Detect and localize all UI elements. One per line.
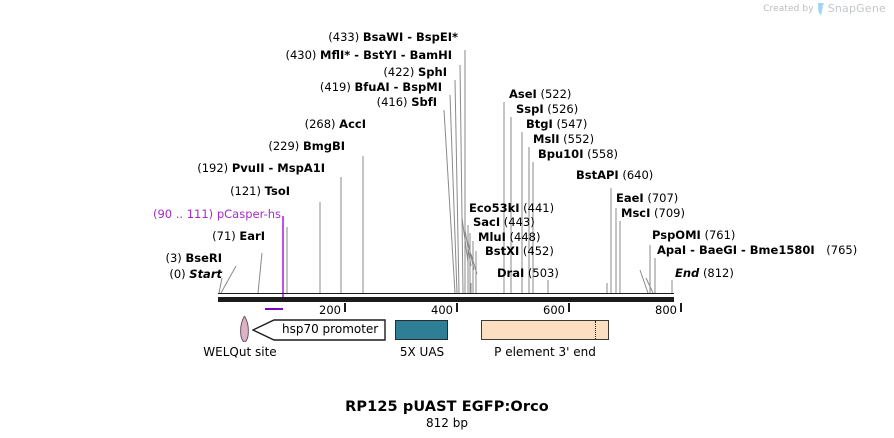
enzyme-label[interactable]: BstXI (452) xyxy=(485,245,554,258)
enzyme-position: (761) xyxy=(704,228,735,242)
enzyme-names: EaeI xyxy=(616,191,644,205)
enzyme-position: (229) xyxy=(268,139,299,153)
ruler-label: 800 xyxy=(655,303,680,317)
enzyme-position: (433) xyxy=(328,30,359,44)
plasmid-title: RP125 pUAST EGFP:Orco xyxy=(0,399,894,415)
enzyme-label[interactable]: (121) TsoI xyxy=(0,185,290,198)
end-position: (812) xyxy=(703,266,734,280)
enzyme-label[interactable]: BstAPI (640) xyxy=(576,169,653,182)
enzyme-names: PspOMI xyxy=(652,228,701,242)
enzyme-position: (547) xyxy=(556,117,587,131)
enzyme-position: (558) xyxy=(587,147,618,161)
plasmid-length: 812 bp xyxy=(0,416,894,430)
enzyme-names: SacI xyxy=(473,215,500,229)
enzyme-label[interactable]: (430) MflI* - BstYI - BamHI xyxy=(0,49,452,62)
ruler-tick xyxy=(456,303,458,312)
enzyme-names: AccI xyxy=(339,117,366,131)
feature-name: pCasper-hs xyxy=(217,207,281,221)
enzyme-label[interactable]: (416) SbfI xyxy=(0,96,437,109)
enzyme-names: EarI xyxy=(239,229,265,243)
enzyme-position: (419) xyxy=(320,80,351,94)
feature-caption-pelement: P element 3' end xyxy=(478,345,612,359)
enzyme-position: (640) xyxy=(622,168,653,182)
ruler-tick xyxy=(344,303,346,312)
enzyme-names: SbfI xyxy=(411,95,437,109)
enzyme-position: (503) xyxy=(528,266,559,280)
start-name: Start xyxy=(189,267,222,281)
enzyme-names: MscI xyxy=(621,206,650,220)
feature-caption-welqut: WELQut site xyxy=(165,345,315,359)
enzyme-label[interactable]: (71) EarI xyxy=(0,230,265,243)
enzyme-label[interactable]: (419) BfuAI - BspMI xyxy=(0,81,442,94)
enzyme-names: BsaWI - BspEI* xyxy=(363,30,458,44)
sequence-backbone[interactable] xyxy=(218,297,674,302)
ruler-tick xyxy=(568,303,570,312)
end-name: End xyxy=(675,266,699,280)
feature-hsp70-label: hsp70 promoter xyxy=(282,322,378,336)
enzyme-names: MflI* - BstYI - BamHI xyxy=(320,48,452,62)
enzyme-position: (448) xyxy=(510,230,541,244)
enzyme-names: DraI xyxy=(497,266,524,280)
enzyme-label[interactable]: Eco53kI (441) xyxy=(469,202,554,215)
enzyme-names: TsoI xyxy=(265,184,290,198)
watermark-brand: SnapGene xyxy=(828,2,886,15)
enzyme-label[interactable]: BtgI (547) xyxy=(526,118,587,131)
enzyme-position: (422) xyxy=(383,65,414,79)
enzyme-label[interactable]: SspI (526) xyxy=(516,103,578,116)
enzyme-names: ApaI - BaeGI - Bme1580I xyxy=(657,243,815,257)
enzyme-names: MluI xyxy=(478,230,506,244)
ruler-label: 400 xyxy=(431,303,456,317)
enzyme-position: (552) xyxy=(563,132,594,146)
enzyme-position: (452) xyxy=(523,244,554,258)
feature-welqut-site[interactable] xyxy=(239,316,250,342)
enzyme-label[interactable]: DraI (503) xyxy=(497,267,559,280)
start-label[interactable]: (0) Start xyxy=(0,268,222,281)
enzyme-label[interactable]: PspOMI (761) xyxy=(652,229,735,242)
watermark-prefix: Created by xyxy=(763,4,814,14)
feature-hsp70-promoter[interactable]: hsp70 promoter xyxy=(252,319,386,341)
enzyme-names: MslI xyxy=(533,132,560,146)
enzyme-label[interactable]: (268) AccI xyxy=(0,118,366,131)
enzyme-label[interactable]: ApaI - BaeGI - Bme1580I (765) xyxy=(657,244,857,257)
enzyme-label[interactable]: EaeI (707) xyxy=(616,192,678,205)
enzyme-names: PvuII - MspA1I xyxy=(232,161,325,175)
enzyme-label[interactable]: (422) SphI xyxy=(0,66,447,79)
enzyme-names: BfuAI - BspMI xyxy=(355,80,442,94)
enzyme-position: (416) xyxy=(377,95,408,109)
enzyme-position: (441) xyxy=(523,201,554,215)
enzyme-label[interactable]: MslI (552) xyxy=(533,133,594,146)
enzyme-label[interactable]: MscI (709) xyxy=(621,207,685,220)
snapgene-watermark: Created by SnapGene xyxy=(763,2,886,15)
ruler-label: 200 xyxy=(319,303,344,317)
enzyme-label[interactable]: (229) BmgBI xyxy=(0,140,345,153)
enzyme-position: (522) xyxy=(540,87,571,101)
enzyme-position: (430) xyxy=(285,48,316,62)
enzyme-position: (3) xyxy=(166,251,182,265)
enzyme-names: AseI xyxy=(509,87,537,101)
enzyme-position: (121) xyxy=(230,184,261,198)
enzyme-names: Eco53kI xyxy=(469,201,520,215)
enzyme-names: BseRI xyxy=(185,251,222,265)
enzyme-names: BmgBI xyxy=(303,139,345,153)
feature-label-pcasper-hs[interactable]: (90 .. 111) pCasper-hs xyxy=(0,208,281,221)
enzyme-names: Bpu10I xyxy=(538,147,583,161)
enzyme-label[interactable]: SacI (443) xyxy=(473,216,535,229)
enzyme-names: BstXI xyxy=(485,244,519,258)
snapgene-logo-icon xyxy=(817,3,825,14)
sequence-backbone-line xyxy=(218,293,674,294)
enzyme-position: (709) xyxy=(654,206,685,220)
ruler-tick xyxy=(680,303,682,312)
enzyme-position: (707) xyxy=(647,191,678,205)
start-position: (0) xyxy=(169,267,185,281)
plasmid-map: Created by SnapGene xyxy=(0,0,894,438)
enzyme-label[interactable]: (433) BsaWI - BspEI* xyxy=(0,31,458,44)
enzyme-label[interactable]: AseI (522) xyxy=(509,88,571,101)
end-label[interactable]: End (812) xyxy=(675,267,734,280)
enzyme-names: SphI xyxy=(418,65,447,79)
enzyme-names: BtgI xyxy=(526,117,553,131)
feature-p-element-3-end[interactable] xyxy=(481,320,609,340)
enzyme-label[interactable]: Bpu10I (558) xyxy=(538,148,618,161)
feature-internal-divider xyxy=(595,321,596,339)
enzyme-position: (443) xyxy=(504,215,535,229)
enzyme-position: (71) xyxy=(212,229,236,243)
feature-5x-uas[interactable] xyxy=(395,320,448,340)
enzyme-label[interactable]: MluI (448) xyxy=(478,231,540,244)
feature-position: (90 .. 111) xyxy=(153,207,213,221)
enzyme-position: (526) xyxy=(547,102,578,116)
enzyme-label[interactable]: (192) PvuII - MspA1I xyxy=(0,162,325,175)
enzyme-position: (765) xyxy=(818,243,857,257)
feature-caption-uas: 5X UAS xyxy=(383,345,461,359)
enzyme-position: (192) xyxy=(197,161,228,175)
enzyme-names: BstAPI xyxy=(576,168,619,182)
ruler-label: 600 xyxy=(543,303,568,317)
enzyme-label[interactable]: (3) BseRI xyxy=(0,252,222,265)
enzyme-position: (268) xyxy=(305,117,336,131)
enzyme-names: SspI xyxy=(516,102,544,116)
